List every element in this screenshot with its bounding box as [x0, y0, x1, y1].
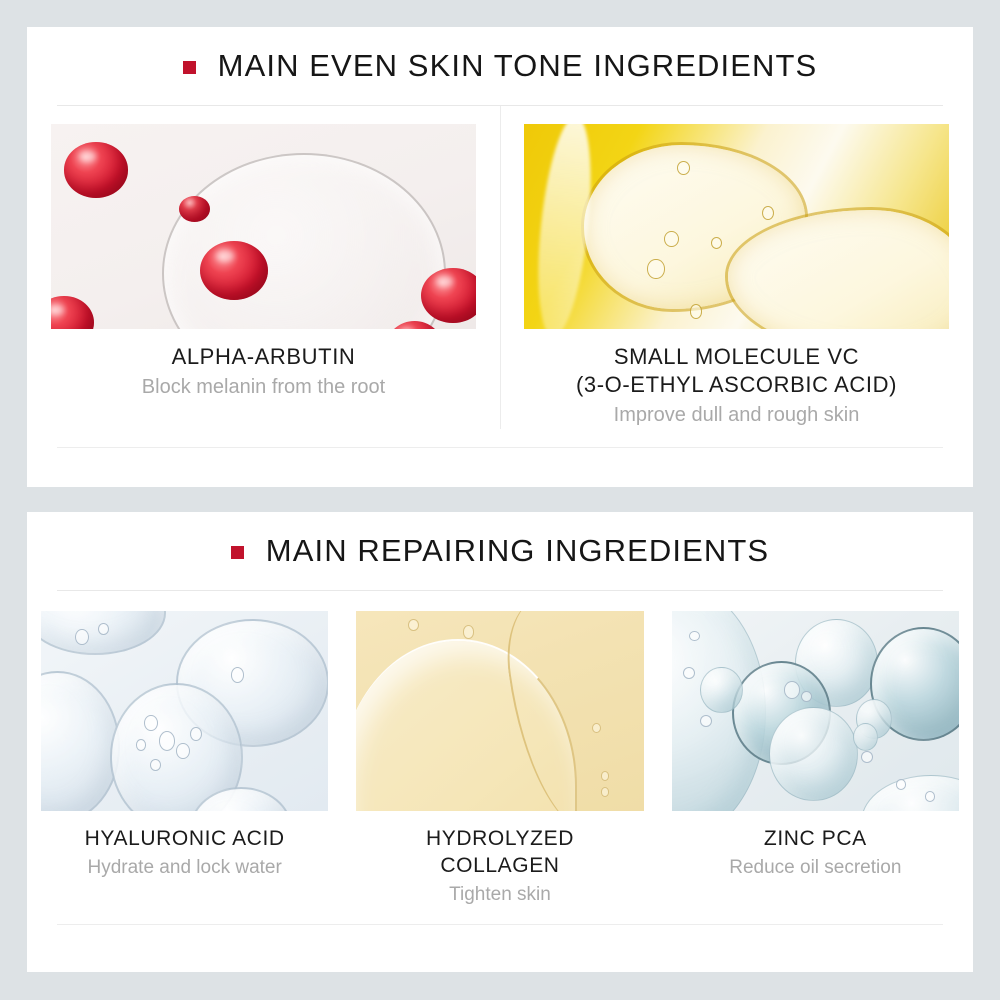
cream-gel-texture-photo: [356, 611, 643, 811]
section-repairing: MAIN REPAIRING INGREDIENTS: [27, 512, 973, 972]
berry-center: [200, 241, 268, 300]
caption-alpha-arbutin: ALPHA-ARBUTIN Block melanin from the roo…: [142, 329, 385, 401]
teal-bubble-bottom-right: [861, 775, 959, 811]
oil-bubble-2: [664, 231, 679, 247]
teal-oil-bubbles-photo: [672, 611, 959, 811]
berry-top-left: [64, 142, 128, 197]
section-header-repairing: MAIN REPAIRING INGREDIENTS: [27, 512, 973, 590]
ingredient-name: HYALURONIC ACID: [85, 825, 285, 852]
micro-bubble-1: [689, 631, 700, 641]
ingredient-card-small-molecule-vc[interactable]: SMALL MOLECULE VC (3-O-ETHYL ASCORBIC AC…: [500, 106, 973, 429]
golden-yellow-oil-texture-photo: [524, 124, 949, 329]
caption-hydrolyzed-collagen: HYDROLYZED COLLAGEN Tighten skin: [426, 811, 574, 908]
section-even-skin-tone: MAIN EVEN SKIN TONE INGREDIENTS ALPHA-AR…: [27, 27, 973, 487]
square-bullet-icon: [231, 546, 244, 559]
micro-bubble-8: [98, 623, 109, 635]
ingredient-name: SMALL MOLECULE VC (3-O-ETHYL ASCORBIC AC…: [576, 343, 897, 399]
oil-bubble-5: [690, 304, 702, 318]
teal-bubble-small-left: [700, 667, 742, 713]
section-bottom-divider: [57, 924, 943, 925]
teal-bubble-tiny-right: [853, 723, 878, 751]
ingredient-card-hydrolyzed-collagen[interactable]: HYDROLYZED COLLAGEN Tighten skin: [342, 591, 657, 908]
red-berries-in-clear-dish-photo: [51, 124, 476, 329]
ingredient-benefit: Tighten skin: [426, 882, 574, 908]
caption-small-molecule-vc: SMALL MOLECULE VC (3-O-ETHYL ASCORBIC AC…: [576, 329, 897, 429]
oil-bubble-4: [647, 259, 664, 278]
ingredient-benefit: Block melanin from the root: [142, 374, 385, 401]
gel-bubble-1: [408, 619, 419, 631]
clear-dish-shape: [162, 153, 447, 329]
micro-bubble-2: [159, 731, 175, 751]
micro-bubble-1: [144, 715, 157, 731]
caption-zinc-pca: ZINC PCA Reduce oil secretion: [729, 811, 901, 881]
micro-bubble-8: [925, 791, 936, 802]
micro-bubble-2: [683, 667, 695, 679]
water-bubble-left: [41, 671, 120, 811]
ingredient-benefit: Improve dull and rough skin: [576, 402, 897, 429]
square-bullet-icon: [183, 61, 196, 74]
caption-hyaluronic-acid: HYALURONIC ACID Hydrate and lock water: [85, 811, 285, 881]
ingredient-name: ZINC PCA: [729, 825, 901, 852]
card-grid-repairing: HYALURONIC ACID Hydrate and lock water H…: [27, 591, 973, 908]
ingredient-name: HYDROLYZED COLLAGEN: [426, 825, 574, 879]
micro-bubble-6: [861, 751, 873, 763]
ingredient-benefit: Hydrate and lock water: [85, 855, 285, 881]
gel-bubble-2: [463, 625, 475, 639]
ingredient-benefit: Reduce oil secretion: [729, 855, 901, 881]
section-title: MAIN REPAIRING INGREDIENTS: [266, 533, 769, 569]
section-title: MAIN EVEN SKIN TONE INGREDIENTS: [218, 48, 818, 84]
ingredient-infographic: MAIN EVEN SKIN TONE INGREDIENTS ALPHA-AR…: [0, 0, 1000, 1000]
micro-bubble-4: [784, 681, 800, 699]
berry-bottom-left: [51, 296, 94, 329]
micro-bubble-5: [801, 691, 812, 702]
ingredient-name: ALPHA-ARBUTIN: [142, 343, 385, 371]
berry-right: [421, 268, 476, 323]
ingredient-card-alpha-arbutin[interactable]: ALPHA-ARBUTIN Block melanin from the roo…: [27, 106, 500, 429]
teal-bubble-bottom-center: [769, 707, 857, 801]
section-bottom-divider: [57, 447, 943, 448]
micro-bubble-9: [231, 667, 244, 683]
card-grid-even-skin-tone: ALPHA-ARBUTIN Block melanin from the roo…: [27, 106, 973, 429]
section-header-even-skin-tone: MAIN EVEN SKIN TONE INGREDIENTS: [27, 27, 973, 105]
micro-bubble-5: [150, 759, 161, 771]
micro-bubble-7: [75, 629, 88, 645]
ingredient-card-zinc-pca[interactable]: ZINC PCA Reduce oil secretion: [658, 591, 973, 908]
clear-water-bubbles-photo: [41, 611, 328, 811]
gel-bubble-3: [592, 723, 601, 733]
micro-bubble-4: [176, 743, 189, 759]
ingredient-card-hyaluronic-acid[interactable]: HYALURONIC ACID Hydrate and lock water: [27, 591, 342, 908]
